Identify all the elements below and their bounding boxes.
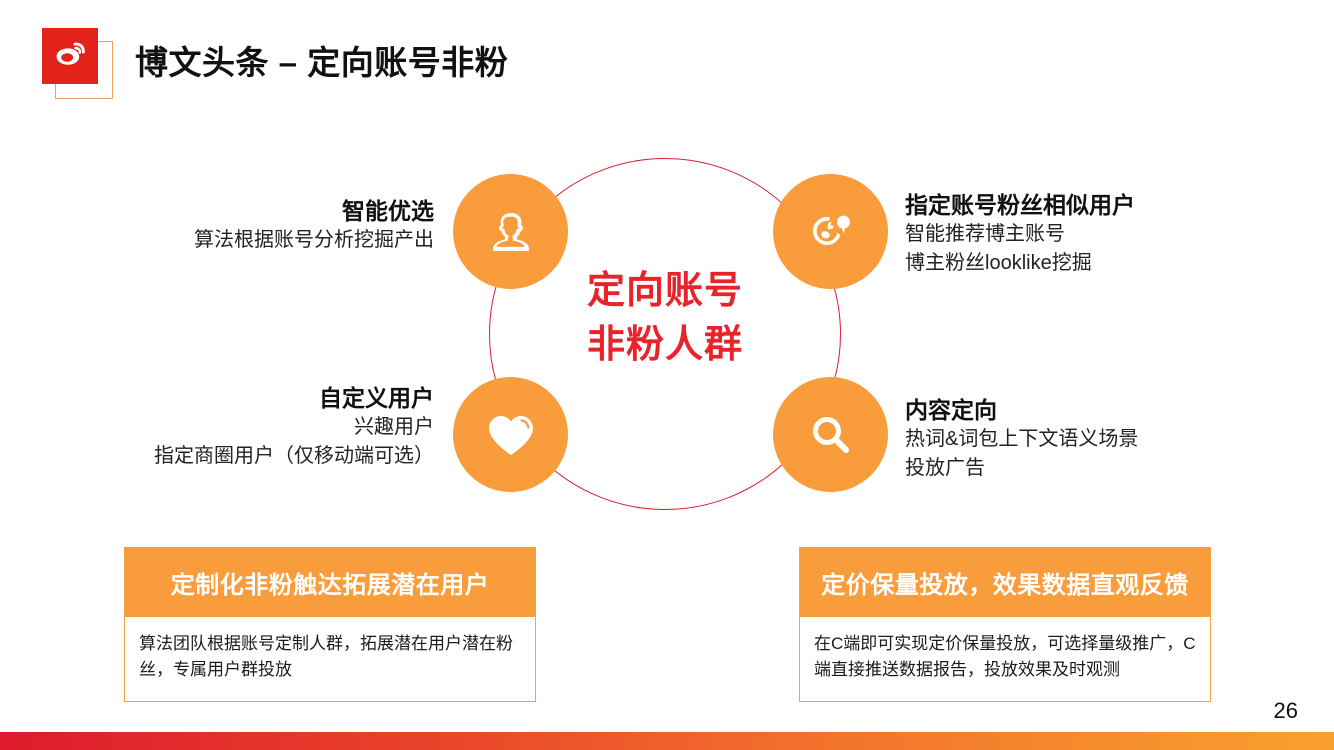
callout-line: 博主粉丝looklike挖掘 <box>905 249 1135 278</box>
page-number: 26 <box>1274 698 1298 724</box>
node-smart-select[interactable] <box>453 174 568 289</box>
callout-line: 智能推荐博主账号 <box>905 220 1135 249</box>
info-box-fixed-price: 定价保量投放，效果数据直观反馈 在C端即可实现定价保量投放，可选择量级推广，C端… <box>799 547 1211 702</box>
callout-title: 指定账号粉丝相似用户 <box>905 190 1135 220</box>
footer-gradient-bar <box>0 732 1334 750</box>
page-title: 博文头条 – 定向账号非粉 <box>135 36 508 84</box>
circle-ring <box>489 158 841 510</box>
weibo-eye-icon <box>50 36 90 76</box>
node-content-targeting[interactable] <box>773 377 888 492</box>
search-icon <box>803 407 859 463</box>
node-custom-user[interactable] <box>453 377 568 492</box>
callout-fans-lookalike: 指定账号粉丝相似用户 智能推荐博主账号 博主粉丝looklike挖掘 <box>905 190 1135 278</box>
info-box-custom-reach: 定制化非粉触达拓展潜在用户 算法团队根据账号定制人群，拓展潜在用户潜在粉丝，专属… <box>124 547 536 702</box>
info-box-heading: 定价保量投放，效果数据直观反馈 <box>800 548 1210 617</box>
logo-red-square <box>42 28 98 84</box>
callout-line: 指定商圈用户（仅移动端可选） <box>154 442 434 471</box>
callout-custom-user: 自定义用户 兴趣用户 指定商圈用户（仅移动端可选） <box>154 383 434 471</box>
callout-line: 投放广告 <box>905 454 1138 483</box>
callout-title: 智能优选 <box>194 196 434 226</box>
heart-icon <box>483 407 539 463</box>
callout-title: 内容定向 <box>905 395 1138 425</box>
callout-line: 算法根据账号分析挖掘产出 <box>194 226 434 255</box>
info-box-heading: 定制化非粉触达拓展潜在用户 <box>125 548 535 617</box>
user-icon <box>482 203 540 261</box>
center-label-line1: 定向账号 <box>545 265 785 319</box>
callout-smart-select: 智能优选 算法根据账号分析挖掘产出 <box>194 196 434 255</box>
callout-line: 兴趣用户 <box>154 413 434 442</box>
callout-content-targeting: 内容定向 热词&词包上下文语义场景 投放广告 <box>905 395 1138 483</box>
info-box-body: 算法团队根据账号定制人群，拓展潜在用户潜在粉丝，专属用户群投放 <box>125 617 535 684</box>
info-box-body: 在C端即可实现定价保量投放，可选择量级推广，C端直接推送数据报告，投放效果及时观… <box>800 617 1210 684</box>
weibo-logo <box>42 28 114 100</box>
center-label: 定向账号 非粉人群 <box>545 265 785 373</box>
callout-line: 热词&词包上下文语义场景 <box>905 425 1138 454</box>
node-fans-lookalike[interactable] <box>773 174 888 289</box>
center-label-line2: 非粉人群 <box>545 319 785 373</box>
fans-group-icon <box>802 203 860 261</box>
callout-title: 自定义用户 <box>154 383 434 413</box>
